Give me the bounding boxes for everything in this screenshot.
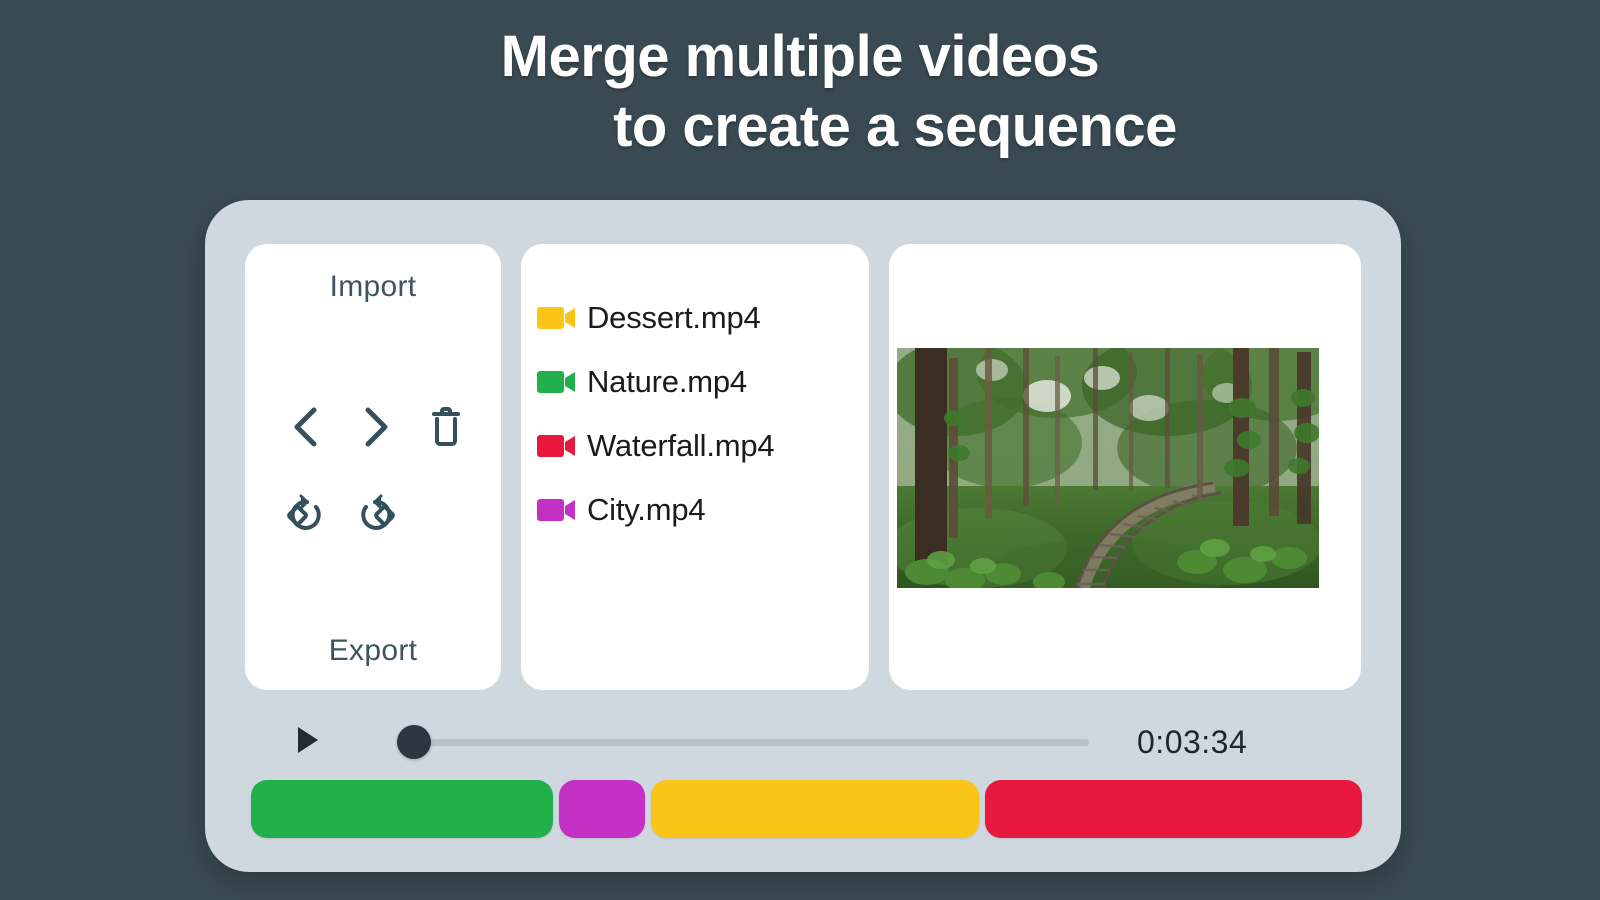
time-display: 0:03:34 xyxy=(1137,724,1247,761)
tool-row-rotation xyxy=(271,470,481,556)
file-name: Dessert.mp4 xyxy=(587,300,761,336)
list-item[interactable]: Waterfall.mp4 xyxy=(537,414,857,478)
headline-line-2: to create a sequence xyxy=(0,92,1600,162)
timeline-clip-dessert[interactable] xyxy=(651,780,978,838)
next-button[interactable] xyxy=(341,404,411,450)
file-name: Nature.mp4 xyxy=(587,364,747,400)
timeline-track xyxy=(251,780,1361,838)
tool-row-navigation xyxy=(271,384,481,470)
panels-row: Import xyxy=(245,244,1361,690)
seek-track[interactable] xyxy=(413,739,1089,746)
preview-panel xyxy=(889,244,1361,690)
video-camera-icon xyxy=(537,369,577,395)
headline-line-1: Merge multiple videos xyxy=(0,22,1600,92)
page-title: Merge multiple videos to create a sequen… xyxy=(0,22,1600,162)
chevron-left-icon xyxy=(288,404,324,450)
rotate-right-icon xyxy=(353,490,399,536)
rotate-right-button[interactable] xyxy=(341,490,411,536)
rotate-left-icon xyxy=(283,490,329,536)
video-camera-icon xyxy=(537,433,577,459)
rotate-left-button[interactable] xyxy=(271,490,341,536)
previous-button[interactable] xyxy=(271,404,341,450)
export-button[interactable]: Export xyxy=(245,634,501,668)
timeline-clip-nature[interactable] xyxy=(251,780,553,838)
list-item[interactable]: Nature.mp4 xyxy=(537,350,857,414)
tool-button-grid xyxy=(271,384,481,556)
video-camera-icon xyxy=(537,305,577,331)
video-camera-icon xyxy=(537,497,577,523)
preview-image xyxy=(897,348,1319,588)
transport-bar: 0:03:34 xyxy=(205,706,1401,778)
play-icon xyxy=(295,725,321,760)
trash-icon xyxy=(429,405,463,449)
tools-panel: Import xyxy=(245,244,501,690)
list-item[interactable]: City.mp4 xyxy=(537,478,857,542)
import-button[interactable]: Import xyxy=(245,270,501,304)
file-list: Dessert.mp4 Nature.mp4 Waterfall.mp4 xyxy=(537,286,857,542)
file-name: Waterfall.mp4 xyxy=(587,428,774,464)
timeline-clip-city[interactable] xyxy=(559,780,646,838)
seek-handle[interactable] xyxy=(397,725,431,759)
play-button[interactable] xyxy=(291,725,325,759)
video-preview[interactable] xyxy=(897,348,1319,588)
list-item[interactable]: Dessert.mp4 xyxy=(537,286,857,350)
seek-slider[interactable] xyxy=(397,725,1089,759)
file-name: City.mp4 xyxy=(587,492,705,528)
file-list-panel: Dessert.mp4 Nature.mp4 Waterfall.mp4 xyxy=(521,244,869,690)
delete-button[interactable] xyxy=(411,405,481,449)
app-window: Import xyxy=(205,200,1401,872)
chevron-right-icon xyxy=(358,404,394,450)
timeline-clip-waterfall[interactable] xyxy=(985,780,1362,838)
